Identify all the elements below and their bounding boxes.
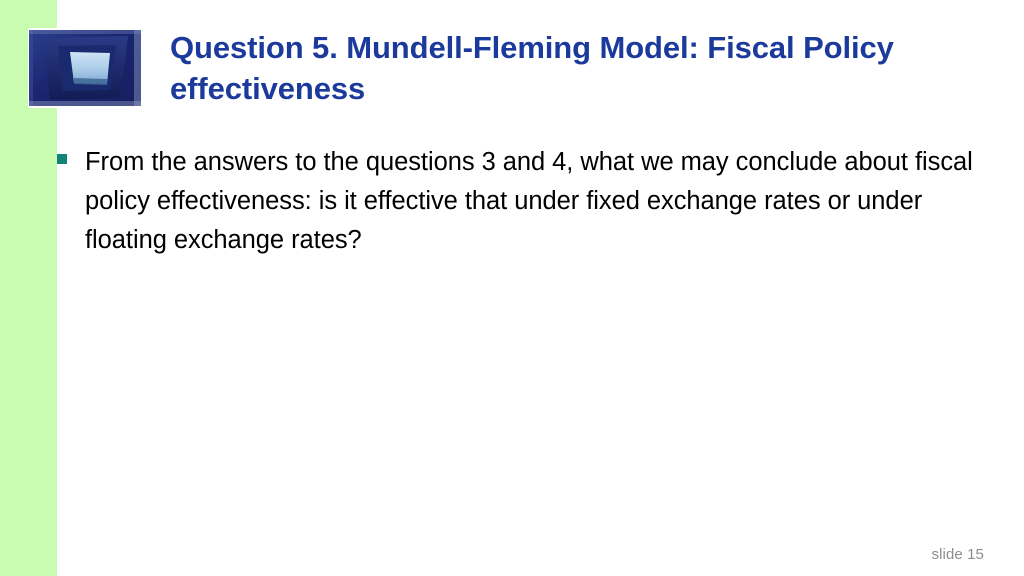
bullet-item-text: From the answers to the questions 3 and … <box>85 143 987 259</box>
slide-canvas: Question 5. Mundell-Fleming Model: Fisca… <box>0 0 1024 576</box>
stairwell-photo-graphic <box>28 28 143 108</box>
content-body: From the answers to the questions 3 and … <box>57 143 987 259</box>
page-title: Question 5. Mundell-Fleming Model: Fisca… <box>170 28 970 110</box>
square-bullet-icon <box>57 154 67 164</box>
bullet-list-item: From the answers to the questions 3 and … <box>57 143 987 259</box>
blue-stairwell-photo <box>28 28 143 108</box>
slide-number-footer: slide 15 <box>931 546 984 563</box>
